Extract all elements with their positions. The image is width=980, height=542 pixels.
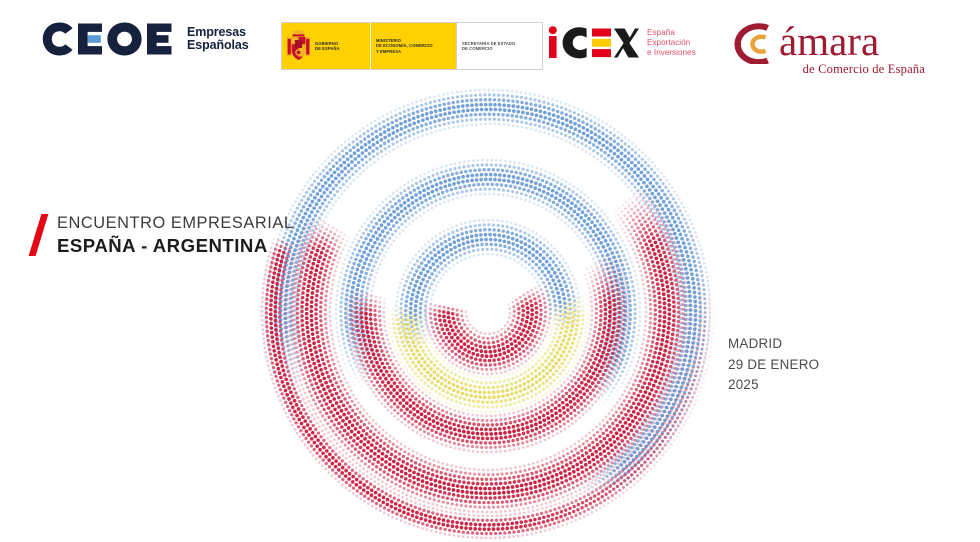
gobierno-line2: DE ESPAÑA bbox=[315, 46, 340, 51]
ceoe-tagline-line2: Españolas bbox=[187, 39, 249, 53]
spanish-coat-of-arms-icon bbox=[286, 29, 311, 63]
camara-subtitle: de Comercio de España bbox=[731, 62, 931, 77]
icex-tagline: España Exportación e Inversiones bbox=[647, 28, 696, 59]
ministerio-line2: DE ECONOMÍA, COMERCIO bbox=[376, 43, 433, 48]
svg-text:ámara: ámara bbox=[779, 20, 879, 64]
ministerio-text: MINISTERIO DE ECONOMÍA, COMERCIO Y EMPRE… bbox=[376, 38, 433, 54]
title-lines: ENCUENTRO EMPRESARIAL ESPAÑA - ARGENTINA bbox=[57, 212, 294, 257]
red-slash-icon bbox=[34, 212, 47, 257]
ceoe-tagline: Empresas Españolas bbox=[187, 26, 249, 53]
date-location-block: MADRID 29 DE ENERO 2025 bbox=[728, 334, 819, 396]
camara-de-comercio-logo: ámara de Comercio de España bbox=[731, 20, 931, 77]
event-title: ENCUENTRO EMPRESARIAL ESPAÑA - ARGENTINA bbox=[34, 212, 294, 257]
event-year: 2025 bbox=[728, 375, 819, 396]
gobierno-block: GOBIERNO DE ESPAÑA bbox=[282, 23, 370, 69]
secretaria-block: SECRETARÍA DE ESTADO DE COMERCIO bbox=[456, 23, 542, 69]
icex-tagline-line2: Exportación bbox=[647, 38, 696, 48]
event-title-line2: ESPAÑA - ARGENTINA bbox=[57, 234, 294, 257]
icex-tagline-line3: e Inversiones bbox=[647, 48, 696, 58]
ceoe-logo: Empresas Españolas bbox=[42, 22, 249, 56]
gobierno-de-espana-logo: GOBIERNO DE ESPAÑA MINISTERIO DE ECONOMÍ… bbox=[281, 22, 543, 70]
icex-tagline-line1: España bbox=[647, 28, 696, 38]
event-city: MADRID bbox=[728, 334, 819, 355]
ceoe-wordmark-icon bbox=[42, 22, 178, 56]
ceoe-tagline-line1: Empresas bbox=[187, 26, 249, 40]
concentric-halftone-rings bbox=[258, 82, 718, 542]
event-date: 29 DE ENERO bbox=[728, 355, 819, 376]
secretaria-text: SECRETARÍA DE ESTADO DE COMERCIO bbox=[462, 41, 515, 52]
icex-wordmark-icon bbox=[548, 26, 640, 60]
camara-wordmark-icon: ámara bbox=[731, 20, 929, 64]
gobierno-text: GOBIERNO DE ESPAÑA bbox=[315, 41, 340, 52]
logo-bar: Empresas Españolas bbox=[0, 0, 980, 92]
secretaria-line2: DE COMERCIO bbox=[462, 46, 515, 51]
halftone-rings-svg bbox=[258, 82, 718, 542]
event-title-line1: ENCUENTRO EMPRESARIAL bbox=[57, 213, 294, 234]
ministerio-line3: Y EMPRESA bbox=[376, 49, 433, 54]
icex-logo: España Exportación e Inversiones bbox=[548, 26, 696, 60]
ministerio-block: MINISTERIO DE ECONOMÍA, COMERCIO Y EMPRE… bbox=[370, 23, 456, 69]
